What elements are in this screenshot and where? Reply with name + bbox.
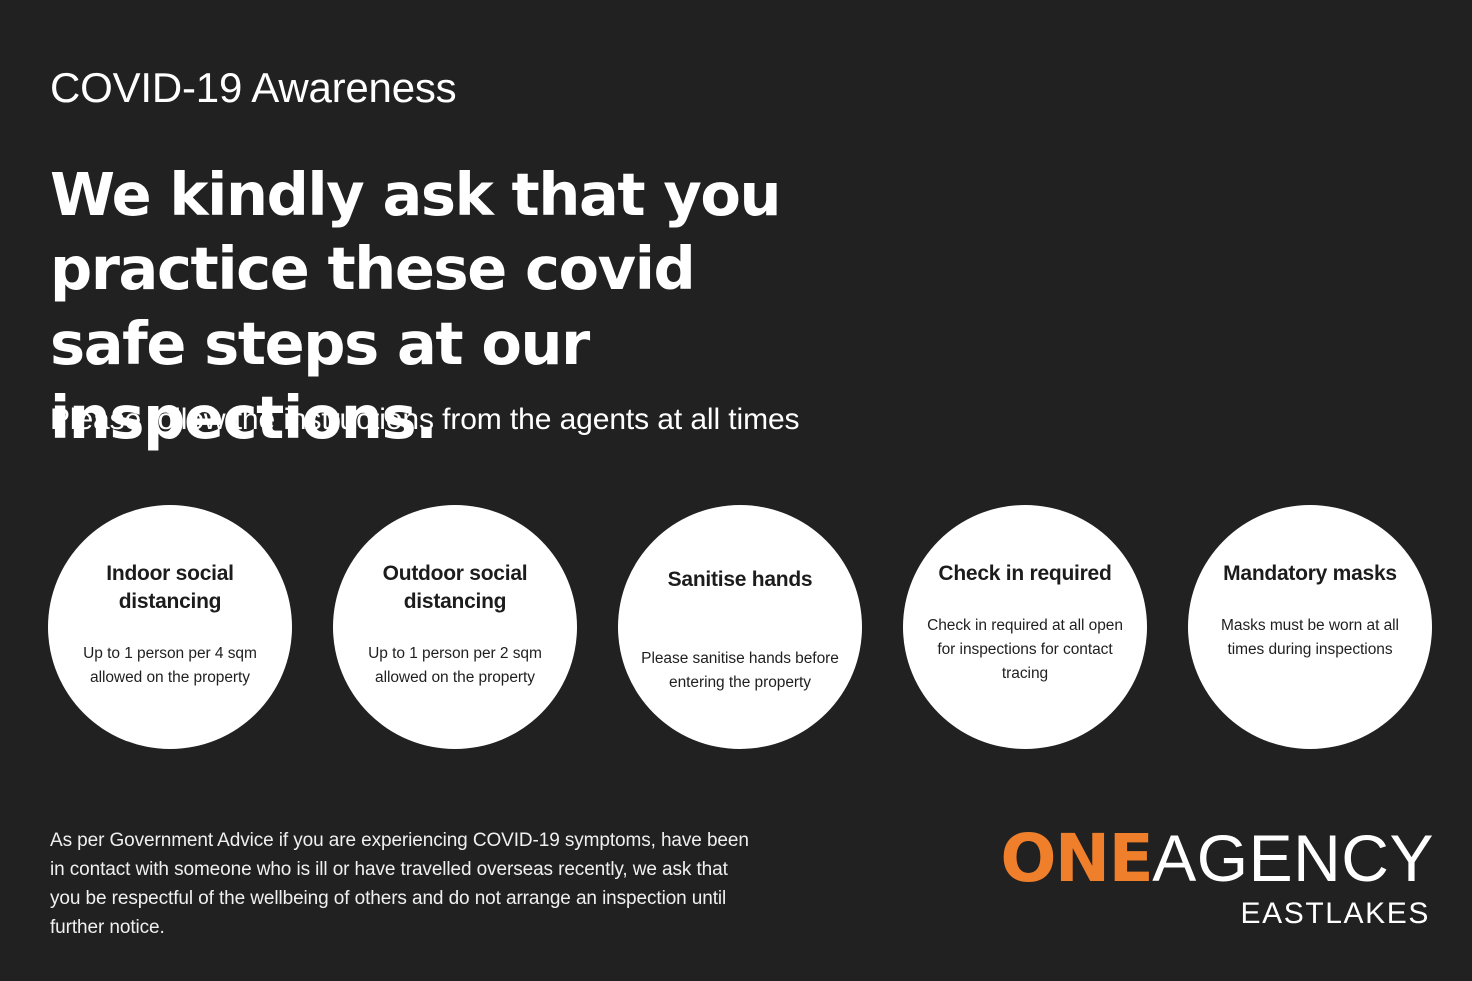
- step-body: Up to 1 person per 4 sqm allowed on the …: [70, 642, 270, 690]
- covid-steps-list: Indoor social distancing Up to 1 person …: [48, 505, 1433, 749]
- logo-wordmark: ONEAGENCY: [1000, 826, 1434, 892]
- step-title: Indoor social distancing: [70, 560, 270, 616]
- step-title: Check in required: [938, 560, 1111, 588]
- poster-subheading: Please follow the instructions from the …: [50, 403, 799, 437]
- step-circle-sanitise-hands: Sanitise hands Please sanitise hands bef…: [618, 505, 862, 749]
- government-advice-disclaimer: As per Government Advice if you are expe…: [50, 827, 750, 943]
- logo-word-one: ONE: [1000, 820, 1152, 897]
- step-title: Sanitise hands: [668, 566, 813, 594]
- logo-word-agency: AGENCY: [1152, 821, 1434, 895]
- step-circle-mandatory-masks: Mandatory masks Masks must be worn at al…: [1188, 505, 1432, 749]
- step-title: Outdoor social distancing: [355, 560, 555, 616]
- step-circle-outdoor-social-distancing: Outdoor social distancing Up to 1 person…: [333, 505, 577, 749]
- step-title: Mandatory masks: [1223, 560, 1397, 588]
- step-circle-check-in-required: Check in required Check in required at a…: [903, 505, 1147, 749]
- logo-office-name: EASTLAKES: [1000, 899, 1430, 929]
- step-body: Masks must be worn at all times during i…: [1210, 614, 1410, 662]
- step-body: Check in required at all open for inspec…: [925, 614, 1125, 686]
- step-body: Up to 1 person per 2 sqm allowed on the …: [355, 642, 555, 690]
- step-circle-indoor-social-distancing: Indoor social distancing Up to 1 person …: [48, 505, 292, 749]
- step-body: Please sanitise hands before entering th…: [640, 647, 840, 695]
- covid-awareness-poster: COVID-19 Awareness We kindly ask that yo…: [0, 0, 1472, 981]
- poster-kicker: COVID-19 Awareness: [50, 64, 456, 111]
- one-agency-eastlakes-logo: ONEAGENCY EASTLAKES: [1000, 826, 1434, 929]
